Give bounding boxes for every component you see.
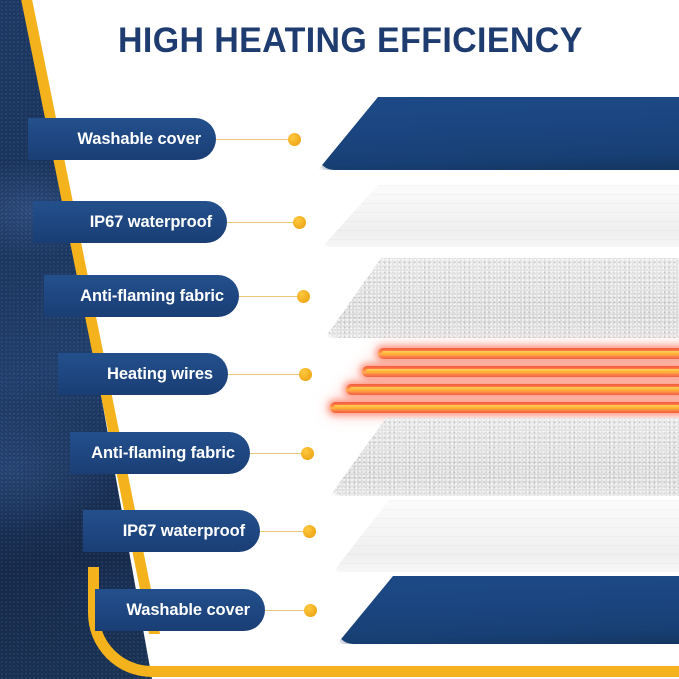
label-text: IP67 waterproof [90, 213, 212, 232]
layer-label-washable-cover-bottom[interactable]: Washable cover [95, 589, 265, 631]
layer-label-washable-cover-top[interactable]: Washable cover [28, 118, 216, 160]
layer-label-ip67-waterproof-top[interactable]: IP67 waterproof [33, 201, 227, 243]
layer-label-anti-flaming-fabric-bottom[interactable]: Anti-flaming fabric [70, 432, 250, 474]
fabric-grain [325, 258, 679, 338]
connector-line-1 [215, 139, 289, 140]
connector-dot-2 [293, 216, 306, 229]
layer-slab-ip67-waterproof-top [322, 185, 679, 247]
layer-heating-wires [330, 348, 679, 414]
heating-wire [362, 366, 679, 377]
infographic-canvas: HIGH HEATING EFFICIENCY [0, 0, 679, 679]
connector-line-2 [226, 222, 294, 223]
heating-wire [330, 402, 679, 413]
connector-line-5 [248, 453, 302, 454]
wire-core [366, 369, 679, 373]
label-text: Anti-flaming fabric [80, 287, 224, 306]
connector-dot-4 [299, 368, 312, 381]
label-text: Washable cover [126, 601, 250, 620]
membrane-streaks [322, 185, 679, 247]
connector-dot-5 [301, 447, 314, 460]
label-text: Anti-flaming fabric [91, 444, 235, 463]
layer-slab-anti-flaming-fabric-bottom [330, 418, 679, 496]
layer-slab-ip67-waterproof-bottom [333, 500, 679, 572]
label-text: IP67 waterproof [123, 522, 245, 541]
connector-dot-7 [304, 604, 317, 617]
heating-wire [378, 348, 679, 359]
layer-label-ip67-waterproof-bottom[interactable]: IP67 waterproof [83, 510, 260, 552]
heating-wire [346, 384, 679, 395]
wire-core [382, 351, 679, 355]
connector-dot-6 [303, 525, 316, 538]
membrane-streaks [333, 500, 679, 572]
wire-core [334, 405, 679, 409]
layer-slab-washable-cover-top [318, 97, 679, 170]
label-text: Washable cover [77, 130, 201, 149]
page-title: HIGH HEATING EFFICIENCY [118, 21, 574, 61]
connector-line-4 [226, 374, 300, 375]
yellow-bottom-bar [150, 666, 679, 677]
wire-core [350, 387, 679, 391]
layer-slab-anti-flaming-fabric-top [325, 258, 679, 338]
connector-line-7 [264, 610, 305, 611]
layer-label-heating-wires[interactable]: Heating wires [58, 353, 228, 395]
fabric-grain [330, 418, 679, 496]
layer-label-anti-flaming-fabric-top[interactable]: Anti-flaming fabric [44, 275, 239, 317]
connector-line-3 [238, 296, 298, 297]
connector-line-6 [258, 531, 304, 532]
connector-dot-3 [297, 290, 310, 303]
label-text: Heating wires [107, 365, 213, 384]
connector-dot-1 [288, 133, 301, 146]
layer-slab-washable-cover-bottom [337, 576, 679, 644]
